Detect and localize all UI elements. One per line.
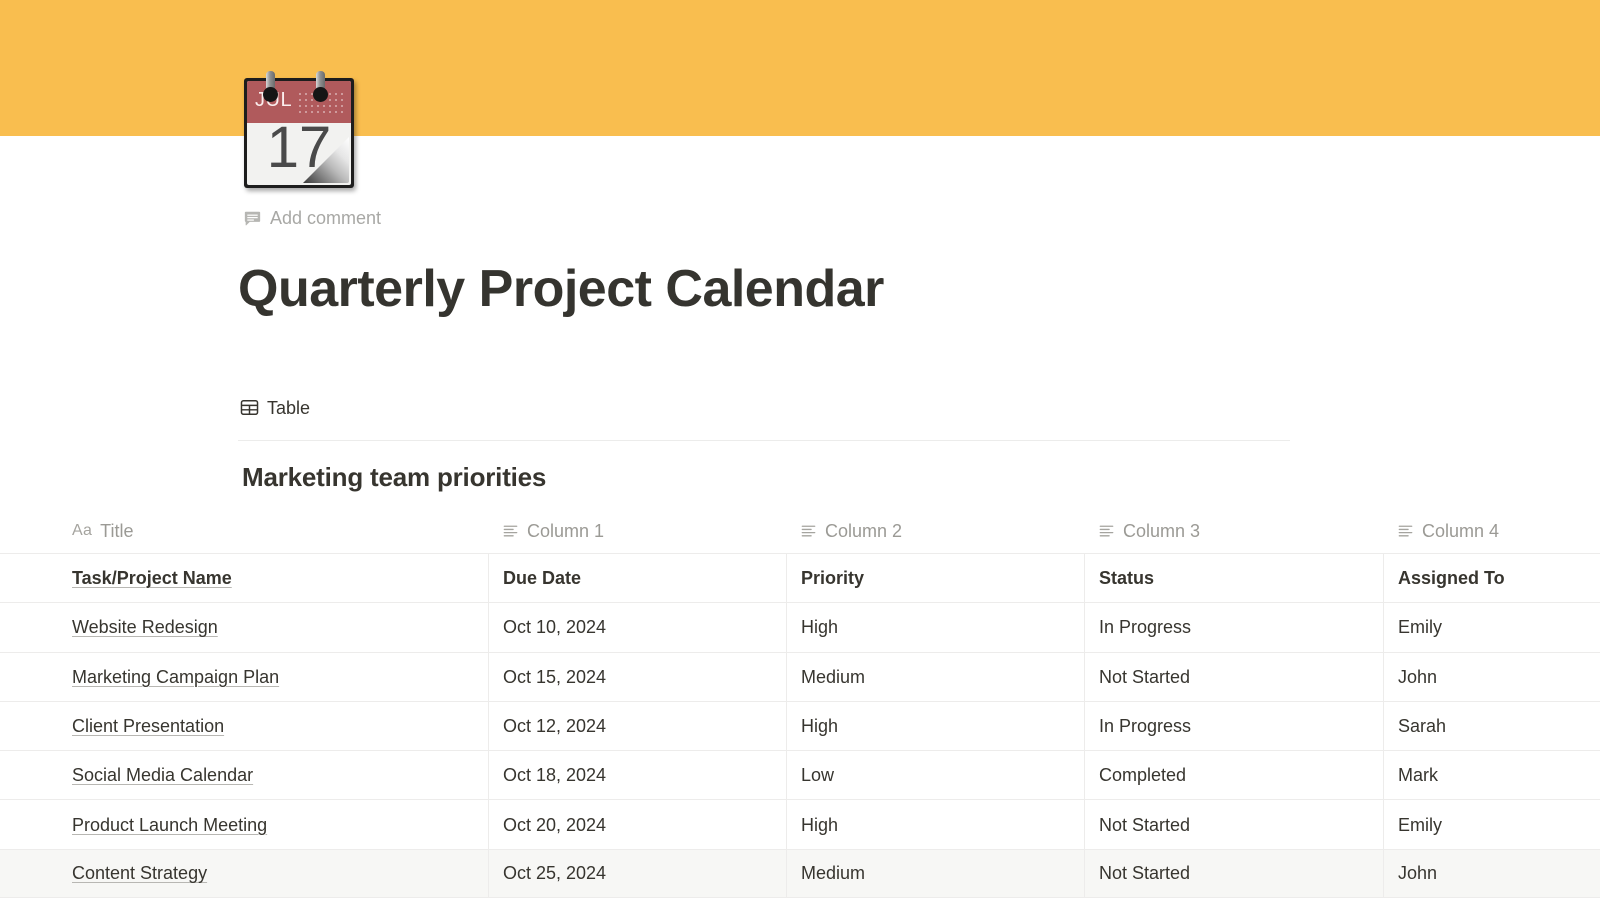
column-header-4-label: Column 4 bbox=[1422, 522, 1499, 540]
database-title[interactable]: Marketing team priorities bbox=[242, 462, 546, 493]
text-property-icon bbox=[1098, 522, 1115, 539]
cell-col3[interactable]: Completed bbox=[1084, 751, 1383, 799]
cell-col3[interactable]: Not Started bbox=[1084, 653, 1383, 701]
cell-col4[interactable]: Assigned To bbox=[1383, 554, 1600, 602]
cell-title-link[interactable]: Product Launch Meeting bbox=[72, 816, 267, 834]
add-comment-button[interactable]: Add comment bbox=[244, 209, 381, 227]
cell-col1[interactable]: Oct 10, 2024 bbox=[488, 603, 786, 651]
cell-col1[interactable]: Oct 25, 2024 bbox=[488, 850, 786, 897]
cell-col4[interactable]: Emily bbox=[1383, 603, 1600, 651]
table-header-row: Aa Title Column 1 bbox=[0, 508, 1600, 553]
add-comment-label: Add comment bbox=[270, 209, 381, 227]
column-header-title[interactable]: Aa Title bbox=[0, 508, 488, 553]
table-row[interactable]: Content StrategyOct 25, 2024MediumNot St… bbox=[0, 849, 1600, 898]
cell-title[interactable]: Website Redesign bbox=[0, 603, 488, 651]
page-cover-banner[interactable] bbox=[0, 0, 1600, 136]
cell-col4[interactable]: John bbox=[1383, 653, 1600, 701]
table-row[interactable]: Social Media CalendarOct 18, 2024LowComp… bbox=[0, 750, 1600, 799]
cell-col4[interactable]: Mark bbox=[1383, 751, 1600, 799]
cell-title[interactable]: Product Launch Meeting bbox=[0, 800, 488, 848]
cell-title-link[interactable]: Social Media Calendar bbox=[72, 766, 253, 784]
calendar-ring-hole-left bbox=[263, 87, 278, 102]
comment-icon bbox=[244, 210, 261, 227]
column-header-2[interactable]: Column 2 bbox=[786, 508, 1084, 553]
table-row[interactable]: Product Launch MeetingOct 20, 2024HighNo… bbox=[0, 799, 1600, 848]
text-property-icon bbox=[800, 522, 817, 539]
text-property-icon bbox=[502, 522, 519, 539]
cell-title[interactable]: Content Strategy bbox=[0, 850, 488, 897]
column-header-title-label: Title bbox=[100, 522, 133, 540]
cell-col4[interactable]: John bbox=[1383, 850, 1600, 897]
table-row[interactable]: Website RedesignOct 10, 2024HighIn Progr… bbox=[0, 602, 1600, 651]
cell-col2[interactable]: Low bbox=[786, 751, 1084, 799]
tab-table[interactable]: Table bbox=[238, 398, 312, 425]
column-header-3[interactable]: Column 3 bbox=[1084, 508, 1383, 553]
column-header-3-label: Column 3 bbox=[1123, 522, 1200, 540]
title-property-icon: Aa bbox=[72, 523, 92, 539]
cell-title[interactable]: Marketing Campaign Plan bbox=[0, 653, 488, 701]
cell-col2[interactable]: High bbox=[786, 800, 1084, 848]
text-property-icon bbox=[1397, 522, 1414, 539]
cell-col4[interactable]: Emily bbox=[1383, 800, 1600, 848]
cell-col3[interactable]: Not Started bbox=[1084, 850, 1383, 897]
database-view-tabs: Table bbox=[238, 398, 1290, 425]
cell-title-link[interactable]: Website Redesign bbox=[72, 618, 218, 636]
table-row[interactable]: Marketing Campaign PlanOct 15, 2024Mediu… bbox=[0, 652, 1600, 701]
cell-col3[interactable]: In Progress bbox=[1084, 603, 1383, 651]
view-tabs-divider bbox=[238, 440, 1290, 441]
calendar-ring-hole-right bbox=[313, 87, 328, 102]
cell-col1[interactable]: Oct 12, 2024 bbox=[488, 702, 786, 750]
table-icon bbox=[240, 398, 259, 417]
cell-col1[interactable]: Oct 15, 2024 bbox=[488, 653, 786, 701]
cell-col3[interactable]: Status bbox=[1084, 554, 1383, 602]
cell-col1[interactable]: Due Date bbox=[488, 554, 786, 602]
cell-col2[interactable]: High bbox=[786, 702, 1084, 750]
page-root: JUL 17 Add comment Quarterly Project Cal… bbox=[0, 0, 1600, 909]
cell-title-link[interactable]: Content Strategy bbox=[72, 864, 207, 882]
column-header-1[interactable]: Column 1 bbox=[488, 508, 786, 553]
cell-col3[interactable]: In Progress bbox=[1084, 702, 1383, 750]
page-icon-calendar[interactable]: JUL 17 bbox=[244, 78, 354, 188]
cell-col4[interactable]: Sarah bbox=[1383, 702, 1600, 750]
column-header-1-label: Column 1 bbox=[527, 522, 604, 540]
cell-col2[interactable]: High bbox=[786, 603, 1084, 651]
table-row[interactable]: Client PresentationOct 12, 2024HighIn Pr… bbox=[0, 701, 1600, 750]
cell-title[interactable]: Social Media Calendar bbox=[0, 751, 488, 799]
cell-col1[interactable]: Oct 20, 2024 bbox=[488, 800, 786, 848]
cell-title-link[interactable]: Client Presentation bbox=[72, 717, 224, 735]
column-header-4[interactable]: Column 4 bbox=[1383, 508, 1600, 553]
cell-col2[interactable]: Medium bbox=[786, 850, 1084, 897]
column-header-2-label: Column 2 bbox=[825, 522, 902, 540]
cell-col2[interactable]: Priority bbox=[786, 554, 1084, 602]
table-body: Task/Project NameDue DatePriorityStatusA… bbox=[0, 553, 1600, 898]
cell-col1[interactable]: Oct 18, 2024 bbox=[488, 751, 786, 799]
cell-title[interactable]: Client Presentation bbox=[0, 702, 488, 750]
database-table: Aa Title Column 1 bbox=[0, 508, 1600, 898]
page-title[interactable]: Quarterly Project Calendar bbox=[238, 258, 884, 320]
cell-title-link[interactable]: Marketing Campaign Plan bbox=[72, 668, 279, 686]
cell-col3[interactable]: Not Started bbox=[1084, 800, 1383, 848]
cell-title[interactable]: Task/Project Name bbox=[0, 554, 488, 602]
cell-title-link[interactable]: Task/Project Name bbox=[72, 569, 232, 587]
table-row[interactable]: Task/Project NameDue DatePriorityStatusA… bbox=[0, 553, 1600, 602]
tab-table-label: Table bbox=[267, 399, 310, 417]
cell-col2[interactable]: Medium bbox=[786, 653, 1084, 701]
